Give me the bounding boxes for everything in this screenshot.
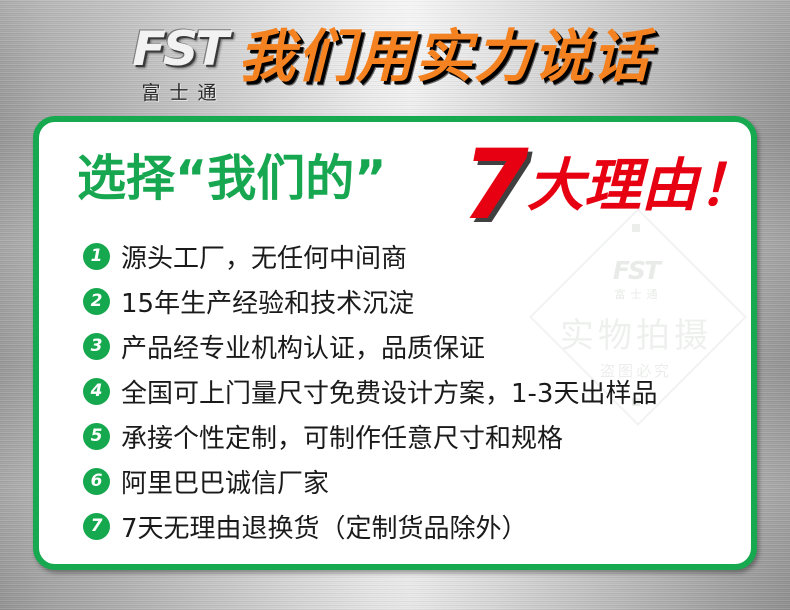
logo-wordmark: FST [115,26,243,73]
title-number-seven: 7 [462,137,529,233]
reasons-card: FST 富士通 实物拍摄 盗图必究 选择“我们的” 7 大理由！ 1 源头工厂，… [33,116,757,570]
list-item-number-badge: 5 [83,423,110,450]
list-item-number-badge: 6 [83,468,110,495]
list-item-label: 承接个性定制，可制作任意尺寸和规格 [121,418,743,455]
list-item: 4 全国可上门量尺寸免费设计方案，1-3天出样品 [83,369,743,414]
title-green-text: 选择“我们的” [77,154,386,203]
reasons-list: 1 源头工厂，无任何中间商 2 15年生产经验和技术沉淀 3 产品经专业机构认证… [83,234,743,549]
list-item: 1 源头工厂，无任何中间商 [83,234,743,279]
list-item: 2 15年生产经验和技术沉淀 [83,279,743,324]
list-item-number-badge: 7 [83,513,110,540]
list-item: 7 7天无理由退换货（定制货品除外） [83,504,743,549]
list-item-number-badge: 3 [83,333,110,360]
title-red-text: 大理由！ [527,158,755,215]
headline-slogan: 我们用实力说话 [238,29,651,86]
list-item-number-badge: 2 [83,288,110,315]
list-item-label: 阿里巴巴诚信厂家 [121,463,743,500]
logo-chinese-name: 富士通 [118,78,240,105]
banner-header: FST 富士通 我们用实力说话 [0,0,790,115]
list-item-number-badge: 4 [83,378,110,405]
list-item-label: 7天无理由退换货（定制货品除外） [121,508,743,545]
list-item: 3 产品经专业机构认证，品质保证 [83,324,743,369]
list-item: 5 承接个性定制，可制作任意尺寸和规格 [83,414,743,459]
list-item: 6 阿里巴巴诚信厂家 [83,459,743,504]
list-item-label: 全国可上门量尺寸免费设计方案，1-3天出样品 [121,373,743,410]
list-item-number-badge: 1 [83,243,110,270]
list-item-label: 源头工厂，无任何中间商 [121,238,743,275]
list-item-label: 产品经专业机构认证，品质保证 [121,328,743,365]
list-item-label: 15年生产经验和技术沉淀 [121,283,743,320]
brand-logo: FST 富士通 [118,26,240,105]
watermark-dot-top [632,224,640,232]
card-title: 选择“我们的” 7 大理由！ [77,138,727,224]
promo-banner: FST 富士通 我们用实力说话 FST 富士通 实物拍摄 盗图必究 选择“我们的… [0,0,790,610]
